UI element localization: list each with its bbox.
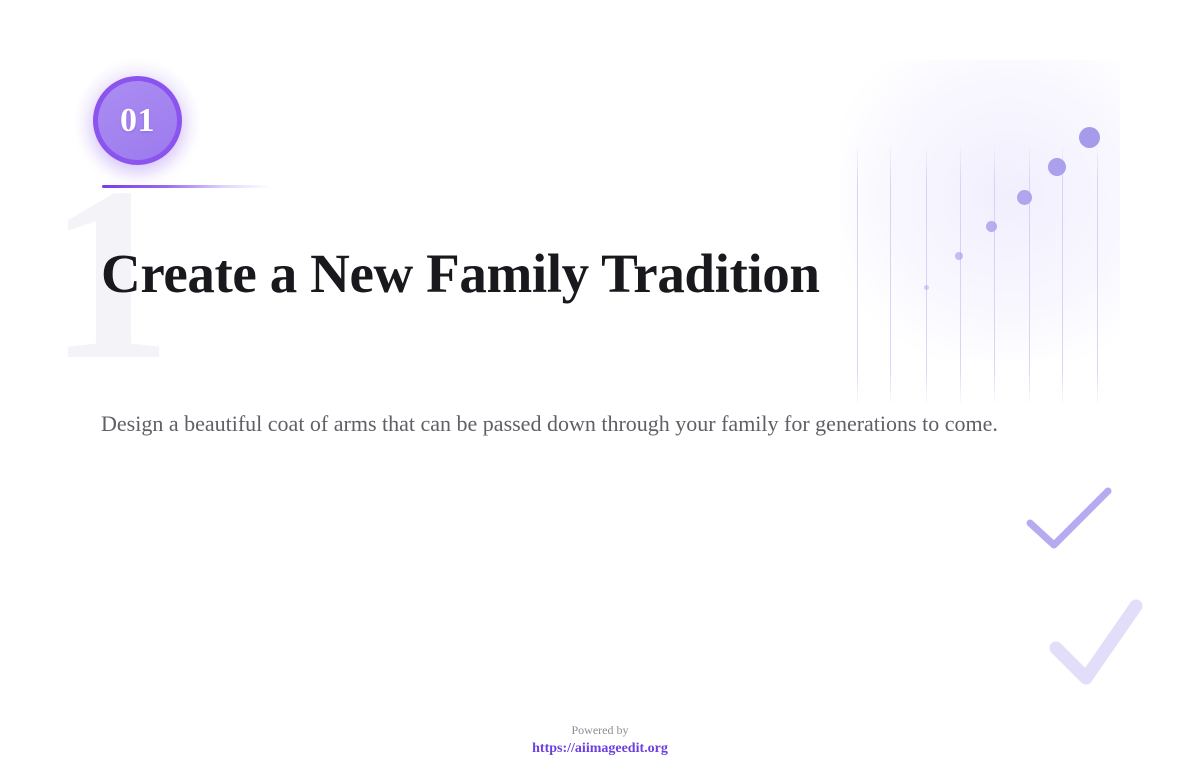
- check-mark-top: [1022, 483, 1116, 553]
- decorative-dot-4: [1017, 190, 1032, 205]
- decorative-dot-5: [1048, 158, 1066, 176]
- body-description: Design a beautiful coat of arms that can…: [101, 402, 1131, 445]
- decorative-line-8: [1097, 147, 1098, 403]
- gradient-divider: [102, 185, 272, 188]
- footer-link[interactable]: https://aiimageedit.org: [532, 741, 668, 757]
- footer: Powered by https://aiimageedit.org: [0, 721, 1200, 757]
- decorative-dot-6: [1079, 127, 1100, 148]
- badge-number-label: 01: [120, 104, 155, 138]
- badge-circle: 01: [93, 76, 182, 165]
- footer-powered-label: Powered by: [0, 721, 1200, 739]
- step-number-badge: 01: [93, 76, 182, 165]
- check-mark-bottom: [1046, 596, 1146, 686]
- decorative-scatter-panel: [840, 60, 1120, 360]
- decorative-dot-3: [986, 221, 997, 232]
- decorative-line-7: [1062, 147, 1063, 403]
- page-title: Create a New Family Tradition: [101, 244, 1001, 303]
- slide-canvas: 1 01 Create a New Family Tradition Desig…: [0, 0, 1200, 771]
- decorative-line-6: [1029, 147, 1030, 403]
